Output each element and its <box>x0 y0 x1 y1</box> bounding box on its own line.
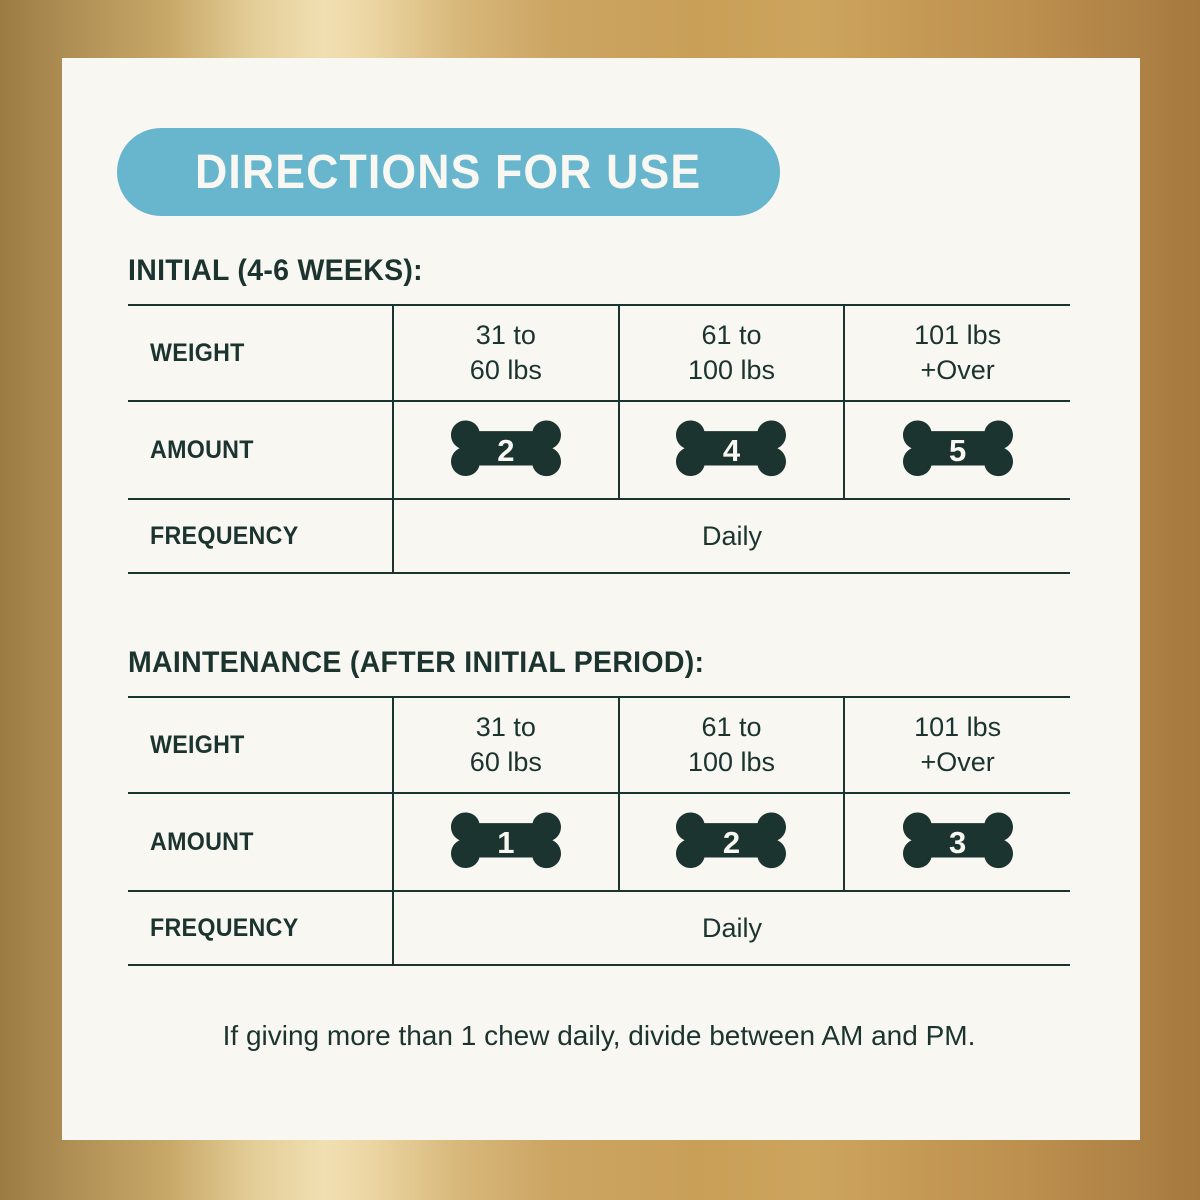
row-label-amount: AMOUNT <box>128 401 393 499</box>
weight-cell-2-line1: 61 to <box>620 710 844 745</box>
table-row-frequency: FREQUENCY Daily <box>128 499 1070 573</box>
directions-for-use-banner: DIRECTIONS FOR USE <box>117 128 780 216</box>
table-row-weight: WEIGHT 31 to 60 lbs 61 to 100 lbs 101 lb… <box>128 697 1070 793</box>
amount-value-3: 3 <box>901 810 1015 874</box>
amount-value-2: 2 <box>674 810 788 874</box>
weight-cell-2: 61 to 100 lbs <box>619 305 845 401</box>
dosing-table-maintenance: WEIGHT 31 to 60 lbs 61 to 100 lbs 101 lb… <box>128 696 1070 966</box>
row-label-frequency-text: FREQUENCY <box>150 914 298 943</box>
bone-icon: 2 <box>674 810 788 874</box>
dosing-table-initial: WEIGHT 31 to 60 lbs 61 to 100 lbs 101 lb… <box>128 304 1070 574</box>
table-row-frequency: FREQUENCY Daily <box>128 891 1070 965</box>
amount-cell-3: 5 <box>844 401 1070 499</box>
frequency-value: Daily <box>393 891 1070 965</box>
amount-cell-3: 3 <box>844 793 1070 891</box>
weight-cell-2-line2: 100 lbs <box>620 745 844 780</box>
weight-cell-3: 101 lbs +Over <box>844 305 1070 401</box>
row-label-weight-text: WEIGHT <box>150 339 245 368</box>
weight-cell-1-line2: 60 lbs <box>394 745 618 780</box>
weight-cell-1: 31 to 60 lbs <box>393 305 619 401</box>
amount-value-2: 4 <box>674 418 788 482</box>
row-label-amount: AMOUNT <box>128 793 393 891</box>
row-label-frequency: FREQUENCY <box>128 499 393 573</box>
frequency-value: Daily <box>393 499 1070 573</box>
table-row-amount: AMOUNT 2 <box>128 401 1070 499</box>
weight-cell-1-line1: 31 to <box>394 318 618 353</box>
weight-cell-3: 101 lbs +Over <box>844 697 1070 793</box>
directions-panel: DIRECTIONS FOR USE INITIAL (4-6 WEEKS): … <box>62 58 1140 1140</box>
section-heading-maintenance: MAINTENANCE (AFTER INITIAL PERIOD): <box>128 646 1023 680</box>
row-label-weight: WEIGHT <box>128 697 393 793</box>
amount-cell-2: 2 <box>619 793 845 891</box>
amount-value-1: 1 <box>449 810 563 874</box>
bone-icon: 5 <box>901 418 1015 482</box>
amount-cell-1: 1 <box>393 793 619 891</box>
bone-icon: 3 <box>901 810 1015 874</box>
weight-cell-3-line2: +Over <box>845 745 1070 780</box>
weight-cell-1-line2: 60 lbs <box>394 353 618 388</box>
row-label-frequency: FREQUENCY <box>128 891 393 965</box>
weight-cell-2-line2: 100 lbs <box>620 353 844 388</box>
weight-cell-3-line1: 101 lbs <box>845 318 1070 353</box>
row-label-frequency-text: FREQUENCY <box>150 522 298 551</box>
table-row-weight: WEIGHT 31 to 60 lbs 61 to 100 lbs 101 lb… <box>128 305 1070 401</box>
weight-cell-2-line1: 61 to <box>620 318 844 353</box>
table-row-amount: AMOUNT 1 <box>128 793 1070 891</box>
weight-cell-2: 61 to 100 lbs <box>619 697 845 793</box>
weight-cell-1-line1: 31 to <box>394 710 618 745</box>
row-label-weight-text: WEIGHT <box>150 731 245 760</box>
amount-cell-1: 2 <box>393 401 619 499</box>
section-initial: INITIAL (4-6 WEEKS): WEIGHT 31 to 60 lbs… <box>128 254 1070 574</box>
row-label-amount-text: AMOUNT <box>150 436 254 465</box>
page-title: DIRECTIONS FOR USE <box>195 145 701 200</box>
weight-cell-3-line1: 101 lbs <box>845 710 1070 745</box>
section-heading-initial: INITIAL (4-6 WEEKS): <box>128 254 1023 288</box>
amount-value-1: 2 <box>449 418 563 482</box>
weight-cell-1: 31 to 60 lbs <box>393 697 619 793</box>
footnote-text: If giving more than 1 chew daily, divide… <box>128 1020 1070 1052</box>
row-label-weight: WEIGHT <box>128 305 393 401</box>
bone-icon: 2 <box>449 418 563 482</box>
bone-icon: 4 <box>674 418 788 482</box>
section-maintenance: MAINTENANCE (AFTER INITIAL PERIOD): WEIG… <box>128 646 1070 966</box>
weight-cell-3-line2: +Over <box>845 353 1070 388</box>
row-label-amount-text: AMOUNT <box>150 828 254 857</box>
amount-cell-2: 4 <box>619 401 845 499</box>
bone-icon: 1 <box>449 810 563 874</box>
amount-value-3: 5 <box>901 418 1015 482</box>
